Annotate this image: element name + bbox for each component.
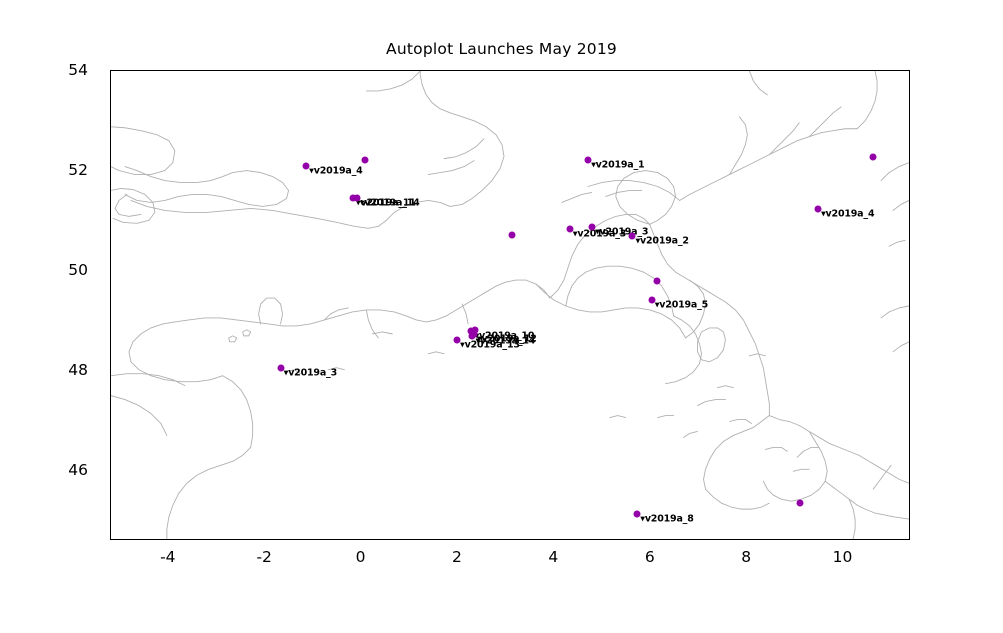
data-point-label: ▾v2019a_2 [635, 236, 688, 247]
y-tick-major [110, 371, 111, 372]
x-tick-label: 6 [645, 548, 655, 566]
data-point[interactable] [361, 157, 368, 164]
y-tick-minor [110, 221, 111, 222]
x-tick-label: 0 [356, 548, 366, 566]
map-plot-figure: Autoplot Launches May 2019 [0, 0, 1003, 633]
y-tick-label: 50 [68, 261, 88, 279]
y-tick-major [110, 171, 111, 172]
y-axis-labels: 4648505254 [0, 70, 100, 540]
x-tick-label: 10 [833, 548, 853, 566]
data-point[interactable] [508, 232, 515, 239]
y-tick-minor [110, 321, 111, 322]
data-point-label: ▾v2019a_4 [309, 166, 362, 177]
page-title: Autoplot Launches May 2019 [0, 40, 1003, 58]
y-tick-label: 52 [68, 161, 88, 179]
y-tick-label: 54 [68, 61, 88, 79]
data-point[interactable] [797, 499, 804, 506]
plot-area[interactable]: ▾v2019a_4▾v2019a_11▾v2019a_14▾v2019a_3▾v… [110, 70, 910, 540]
y-tick-label: 48 [68, 361, 88, 379]
data-point-label: ▾v2019a_3 [284, 367, 337, 378]
x-tick-label: 4 [548, 548, 558, 566]
y-tick-minor [110, 121, 111, 122]
x-axis-labels: -4-20246810 [110, 548, 910, 578]
x-tick-label: -2 [256, 548, 271, 566]
y-tick-minor [110, 421, 111, 422]
data-point-label: ▾v2019a_14 [360, 197, 420, 208]
y-tick-major [110, 471, 111, 472]
x-tick-label: 8 [741, 548, 751, 566]
data-point-label: ▾v2019a_4 [821, 208, 874, 219]
x-tick-label: 2 [452, 548, 462, 566]
x-tick-label: -4 [160, 548, 175, 566]
data-point-label: ▾v2019a_14 [475, 336, 535, 347]
y-tick-major [110, 271, 111, 272]
data-point-label: ▾v2019a_8 [640, 513, 693, 524]
data-point-label: ▾v2019a_1 [591, 160, 644, 171]
basemap-coastlines [111, 71, 909, 539]
data-point[interactable] [653, 278, 660, 285]
y-tick-major [110, 71, 111, 72]
data-point-label: ▾v2019a_5 [655, 300, 708, 311]
data-point[interactable] [870, 154, 877, 161]
data-point[interactable] [472, 327, 479, 334]
y-tick-minor [110, 521, 111, 522]
y-tick-label: 46 [68, 461, 88, 479]
